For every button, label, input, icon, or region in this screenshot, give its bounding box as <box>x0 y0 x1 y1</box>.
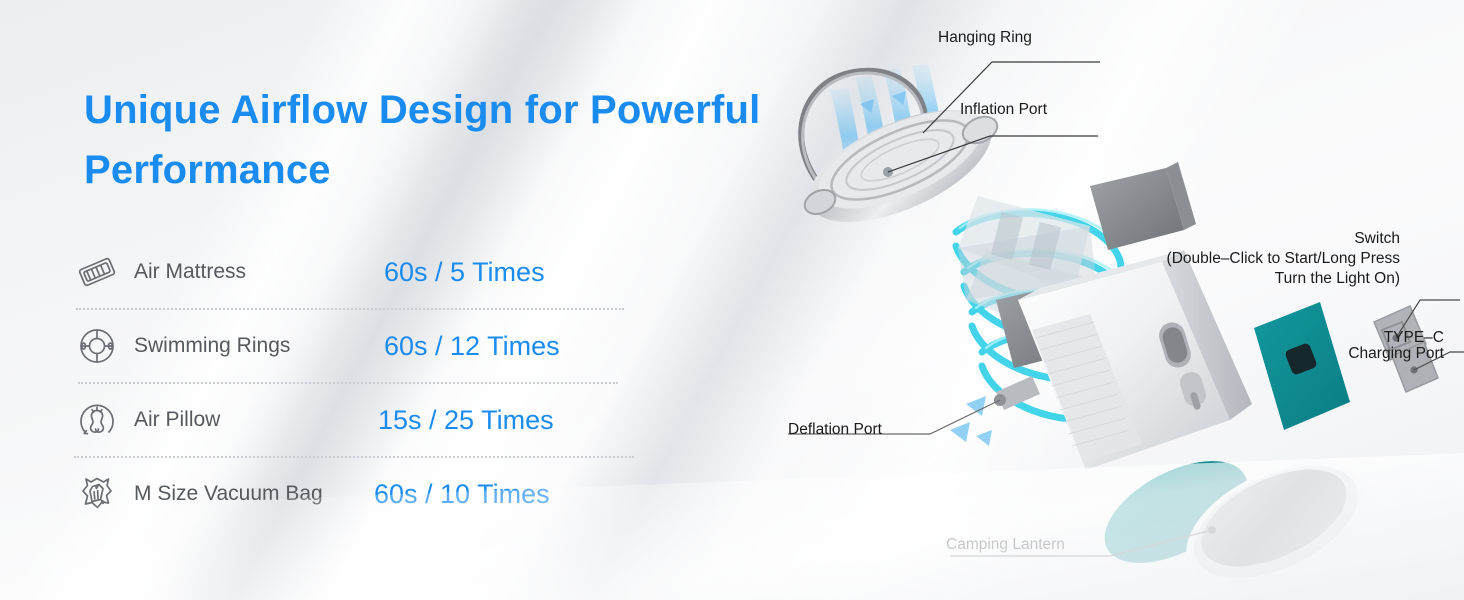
product-infographic: Unique Airflow Design for Powerful Perfo… <box>0 0 1464 600</box>
callout-switch-line1: Switch <box>1354 229 1400 249</box>
spec-value: 60s / 10 Times <box>374 479 550 510</box>
teal-circuit-panel <box>1254 302 1350 430</box>
vacuum-bag-icon <box>74 471 120 517</box>
spec-value: 60s / 5 Times <box>384 257 545 288</box>
callout-hanging-ring: Hanging Ring <box>938 28 1032 48</box>
spec-value: 60s / 12 Times <box>384 331 560 362</box>
spec-value: 15s / 25 Times <box>378 405 554 436</box>
table-row: Air Pillow 15s / 25 Times <box>74 384 634 456</box>
callout-inflation-port: Inflation Port <box>960 100 1047 120</box>
spec-label: M Size Vacuum Bag <box>134 482 323 506</box>
table-row: M Size Vacuum Bag 60s / 10 Times <box>74 458 634 530</box>
air-pillow-icon <box>74 397 120 443</box>
callout-switch-line2: (Double–Click to Start/Long Press <box>1167 249 1400 269</box>
table-row: Air Mattress 60s / 5 Times <box>74 236 634 308</box>
table-row: Swimming Rings 60s / 12 Times <box>74 310 634 382</box>
callout-type-c-line2: Charging Port <box>1348 344 1444 364</box>
swimming-ring-icon <box>74 323 120 369</box>
spec-label: Swimming Rings <box>134 334 290 358</box>
spec-table: Air Mattress 60s / 5 Times Swimming Ring… <box>74 236 634 530</box>
spec-label: Air Pillow <box>134 408 220 432</box>
callout-camping-lantern: Camping Lantern <box>946 535 1065 555</box>
product-exploded-view: Hanging Ring Inflation Port Switch (Doub… <box>760 0 1464 600</box>
page-title: Unique Airflow Design for Powerful Perfo… <box>84 80 774 200</box>
air-mattress-icon <box>74 249 120 295</box>
callout-deflation-port: Deflation Port <box>788 420 882 440</box>
spec-label: Air Mattress <box>134 260 246 284</box>
callout-switch-line3: Turn the Light On) <box>1275 269 1400 289</box>
